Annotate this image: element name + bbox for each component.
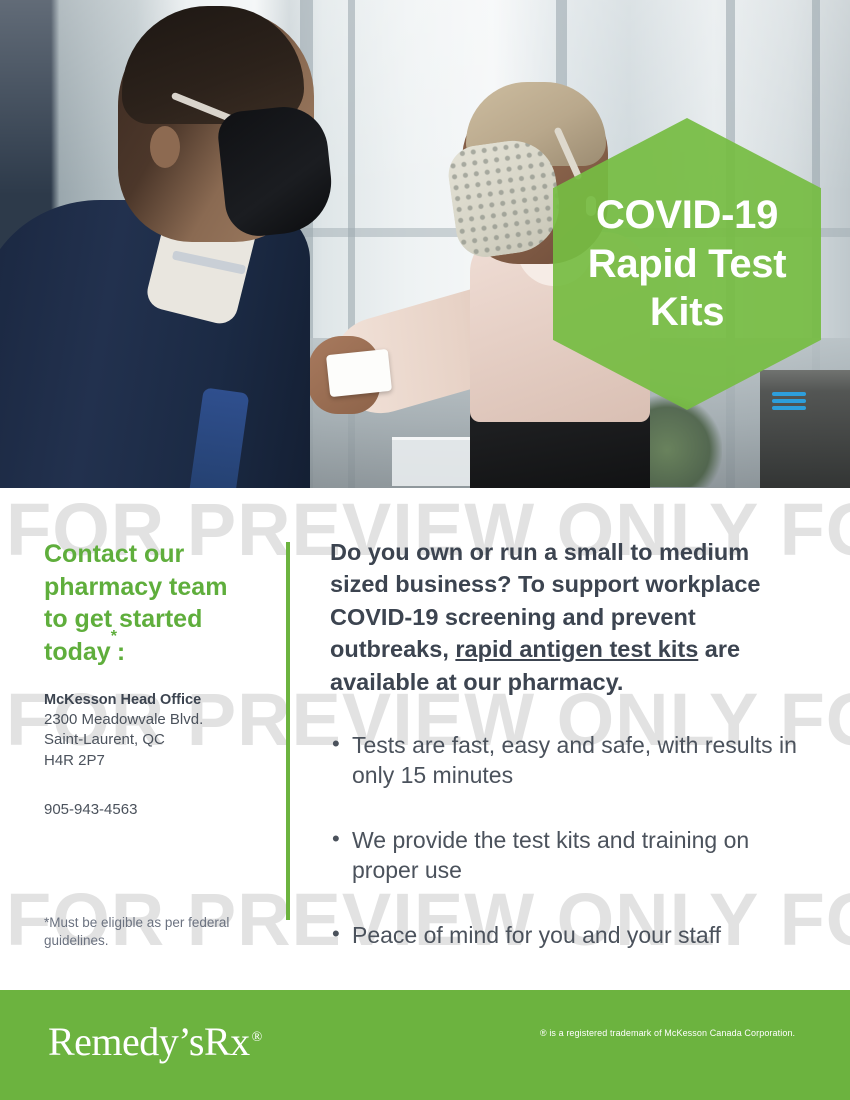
contact-heading-line-4: today: [44, 638, 111, 666]
lead-underlined-phrase: rapid antigen test kits: [455, 636, 698, 662]
remedysrx-logo: Remedy’sRx®: [48, 1018, 260, 1065]
main-copy-column: Do you own or run a small to medium size…: [330, 536, 808, 984]
list-item: Peace of mind for you and your staff: [330, 920, 808, 950]
address-line-1: 2300 Meadowvale Blvd.: [44, 710, 259, 730]
contact-heading-colon: :: [117, 638, 125, 666]
eligibility-fineprint: *Must be eligible as per federal guideli…: [44, 914, 259, 950]
man-suit-jacket: [0, 200, 310, 488]
address-line-3: H4R 2P7: [44, 751, 259, 771]
benefits-list: Tests are fast, easy and safe, with resu…: [330, 730, 808, 950]
footer-bar: Remedy’sRx® ® is a registered trademark …: [0, 990, 850, 1100]
test-kit-card: [326, 349, 392, 397]
badge-line-1: COVID-19: [596, 191, 778, 240]
trademark-note: ® is a registered trademark of McKesson …: [540, 1028, 820, 1040]
phone-number[interactable]: 905-943-4563: [44, 801, 259, 818]
registered-trademark-icon: ®: [252, 1030, 262, 1045]
contact-heading: Contact our pharmacy team to get started…: [44, 538, 259, 668]
office-name: McKesson Head Office: [44, 692, 259, 708]
contact-heading-line-2: pharmacy team: [44, 573, 227, 601]
poster-page: COVID-19 Rapid Test Kits FOR PREVIEW ONL…: [0, 0, 850, 1100]
contact-heading-line-1: Contact our: [44, 540, 184, 568]
badge-line-2: Rapid Test: [588, 240, 787, 289]
lead-paragraph: Do you own or run a small to medium size…: [330, 536, 808, 698]
contact-heading-asterisk: *: [111, 628, 117, 645]
logo-wordmark: Remedy’sRx: [48, 1019, 250, 1064]
address-line-2: Saint-Laurent, QC: [44, 730, 259, 750]
list-item: We provide the test kits and training on…: [330, 825, 808, 886]
vertical-divider: [286, 542, 290, 920]
man-ear: [150, 126, 180, 168]
badge-line-3: Kits: [650, 288, 724, 337]
hexagon-badge-label: COVID-19 Rapid Test Kits: [553, 118, 821, 410]
contact-column: Contact our pharmacy team to get started…: [44, 538, 259, 950]
list-item: Tests are fast, easy and safe, with resu…: [330, 730, 808, 791]
content-area: Contact our pharmacy team to get started…: [0, 488, 850, 990]
contact-heading-line-3: to get started: [44, 605, 202, 633]
hero-photo: COVID-19 Rapid Test Kits: [0, 0, 850, 488]
